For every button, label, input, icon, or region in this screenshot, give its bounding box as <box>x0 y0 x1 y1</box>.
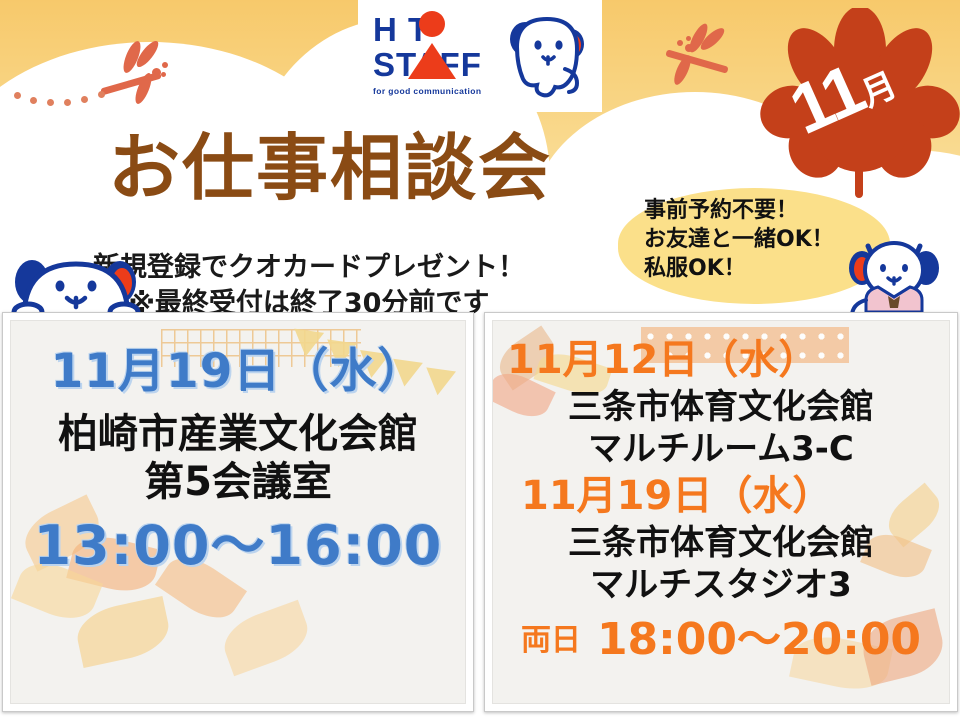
panel-right-time-row: 両日18:00〜20:00 <box>493 617 949 664</box>
panel-right-date-1: 11月12日（水） <box>493 339 949 381</box>
page-title: お仕事相談会 <box>0 132 660 204</box>
flyer-canvas: H T STAFF for good communication <box>0 0 960 720</box>
dotted-trail <box>14 84 114 106</box>
autumn-leaf-decor <box>217 600 315 676</box>
autumn-leaf-decor <box>72 596 173 668</box>
panel-right-room-1: マルチルーム3-C <box>493 431 949 467</box>
panel-left-time: 13:00〜16:00 <box>11 517 465 574</box>
panel-left-room: 第5会議室 <box>11 461 465 503</box>
dragonfly-icon <box>655 22 745 84</box>
panel-right-date-2: 11月19日（水） <box>493 475 949 517</box>
logo-hot-text: H T <box>373 13 523 46</box>
hotstaff-dog-mascot-icon <box>505 11 591 101</box>
november-maple-badge: 11月 <box>760 8 960 204</box>
logo-o-circle <box>419 11 445 37</box>
logo-tagline: for good communication <box>373 86 523 96</box>
panel-left-venue: 柏崎市産業文化会館 <box>11 413 465 455</box>
peeking-dog-mascot-icon <box>8 246 144 318</box>
event-panel-kashiwazaki: 11月19日（水） 柏崎市産業文化会館 第5会議室 13:00〜16:00 <box>2 312 474 712</box>
panel-right-time: 18:00〜20:00 <box>597 614 921 665</box>
panel-left-date: 11月19日（水） <box>11 347 465 397</box>
notice-line-1: 事前予約不要！ <box>644 196 894 225</box>
panel-right-venue-1: 三条市体育文化会館 <box>493 389 949 425</box>
panel-right-venue-2: 三条市体育文化会館 <box>493 525 949 561</box>
dragonfly-icon <box>108 38 198 98</box>
panel-right-time-label: 両日 <box>521 623 581 658</box>
hotstaff-logo: H T STAFF for good communication <box>358 0 602 112</box>
event-panel-sanjo: 11月12日（水） 三条市体育文化会館 マルチルーム3-C 11月19日（水） … <box>484 312 958 712</box>
logo-a-triangle <box>408 43 456 79</box>
panel-right-room-2: マルチスタジオ3 <box>493 567 949 603</box>
